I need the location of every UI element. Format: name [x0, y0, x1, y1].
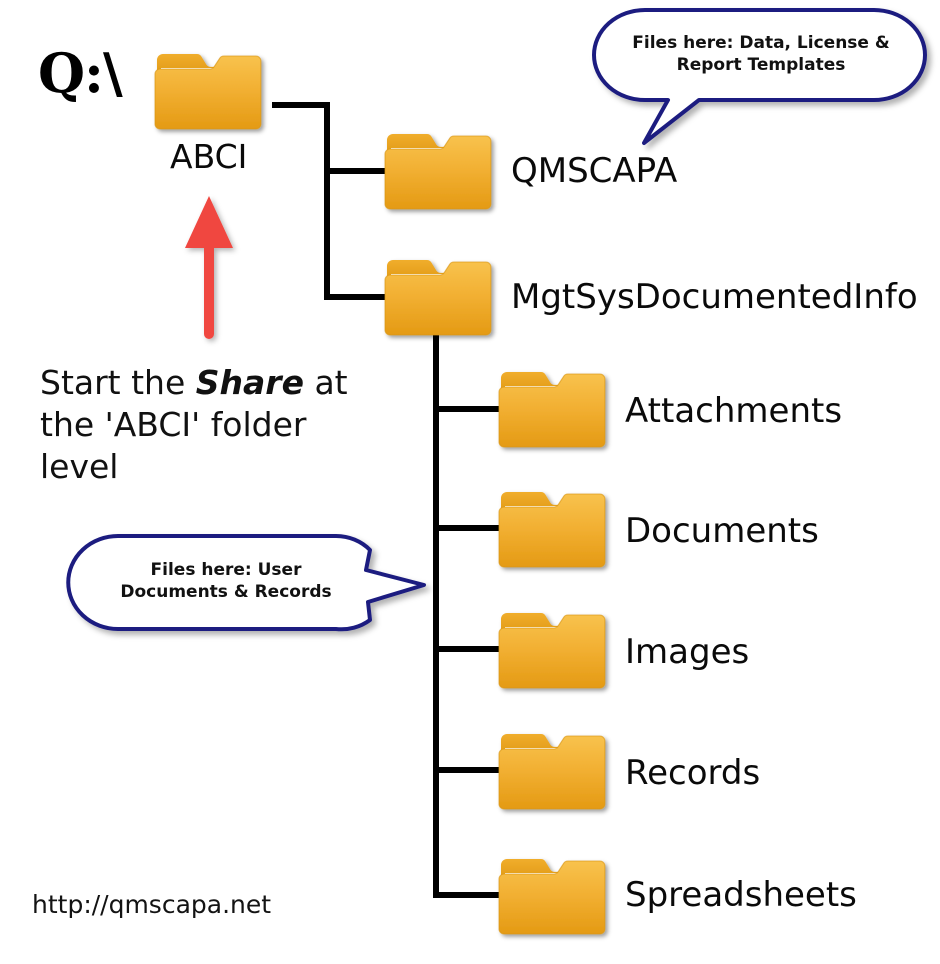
- share-instruction-note: Start the Share at the 'ABCI' folder lev…: [40, 362, 370, 488]
- connector-images: [433, 646, 501, 652]
- footer-url[interactable]: http://qmscapa.net: [32, 890, 271, 919]
- folder-icon-spreadsheets[interactable]: [496, 849, 608, 941]
- folder-label-mgtsysdocumentedinfo: MgtSysDocumentedInfo: [511, 280, 918, 314]
- connector-records: [433, 767, 501, 773]
- connector-attachments: [433, 406, 501, 412]
- connector-root-horizontal: [272, 102, 330, 108]
- folder-label-records: Records: [625, 756, 760, 790]
- callout-mgtsys: Files here: User Documents & Records: [66, 530, 448, 640]
- up-arrow-icon: [178, 192, 240, 338]
- folder-icon-images[interactable]: [496, 603, 608, 695]
- folder-icon-mgtsysdocumentedinfo[interactable]: [382, 250, 494, 342]
- folder-icon-abci[interactable]: [152, 44, 264, 136]
- callout-mgtsys-text: Files here: User Documents & Records: [106, 559, 346, 604]
- drive-label: Q:\: [38, 46, 122, 100]
- note-part1: Start the: [40, 363, 196, 402]
- folder-icon-documents[interactable]: [496, 482, 608, 574]
- diagram-canvas: Q:\: [0, 0, 940, 964]
- folder-label-attachments: Attachments: [625, 394, 842, 428]
- folder-label-qmscapa: QMSCAPA: [511, 154, 677, 188]
- folder-icon-qmscapa[interactable]: [382, 124, 494, 216]
- folder-label-images: Images: [625, 635, 749, 669]
- folder-label-abci: ABCI: [170, 140, 247, 173]
- connector-spreadsheets: [433, 892, 501, 898]
- connector-mgtsys: [324, 294, 388, 300]
- callout-qmscapa-text: Files here: Data, License & Report Templ…: [618, 32, 904, 77]
- folder-label-spreadsheets: Spreadsheets: [625, 878, 857, 912]
- folder-label-documents: Documents: [625, 514, 819, 548]
- folder-icon-attachments[interactable]: [496, 362, 608, 454]
- connector-qmscapa: [324, 168, 388, 174]
- folder-icon-records[interactable]: [496, 724, 608, 816]
- note-emphasis: Share: [196, 363, 304, 402]
- callout-qmscapa: Files here: Data, License & Report Templ…: [588, 4, 934, 150]
- connector-level1-trunk: [324, 102, 330, 300]
